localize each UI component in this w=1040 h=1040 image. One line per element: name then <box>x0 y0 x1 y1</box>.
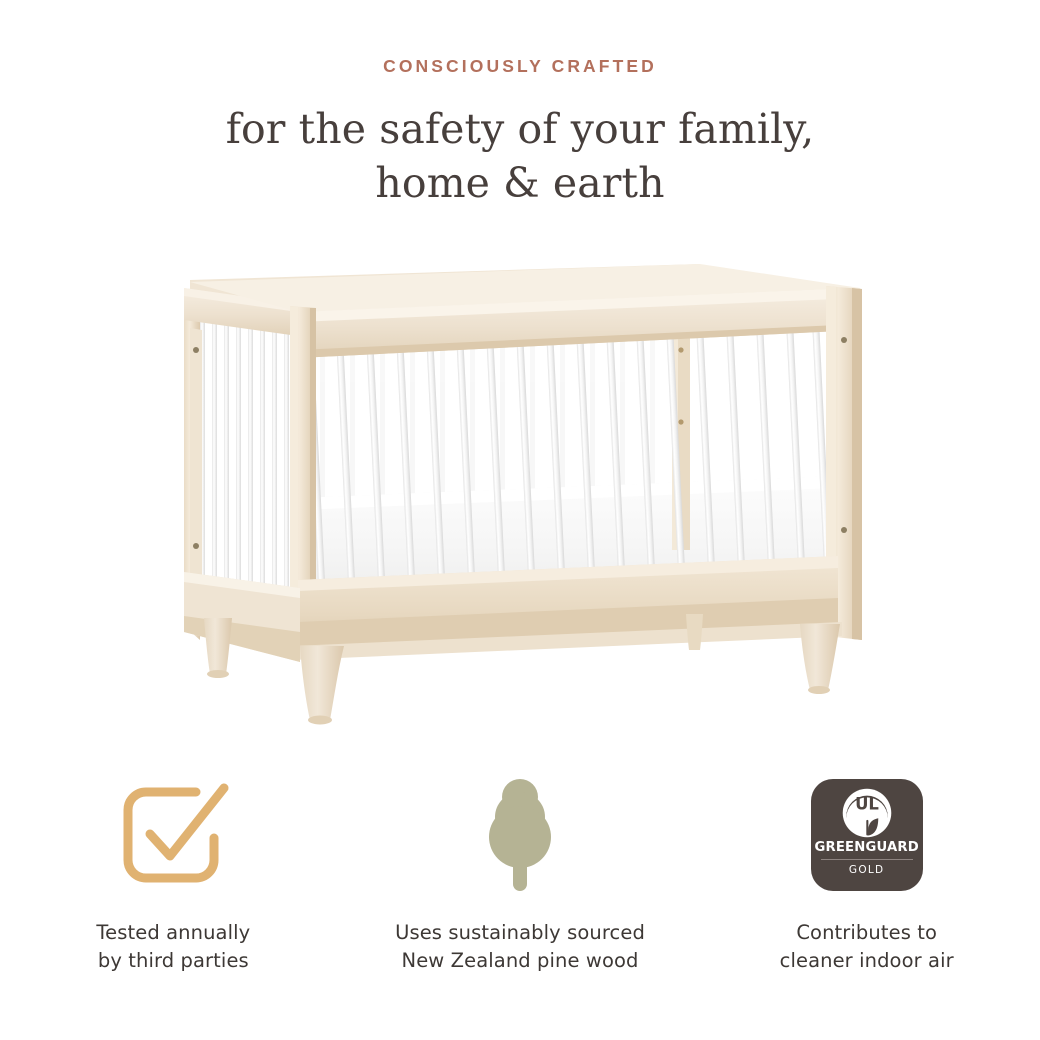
crib-leg-rear-left <box>204 618 232 674</box>
feature-caption: Uses sustainably sourced New Zealand pin… <box>395 919 645 976</box>
header: CONSCIOUSLY CRAFTED for the safety of yo… <box>0 58 1040 211</box>
feature-caption: Tested annually by third parties <box>96 919 250 976</box>
feature-icon-wrap <box>108 765 238 905</box>
greenguard-label: GREENGUARD <box>814 841 918 854</box>
feature-caption-line-1: Tested annually <box>96 919 250 947</box>
greenguard-gold-badge-icon: UL GREENGUARD GOLD <box>811 779 923 891</box>
feature-greenguard-gold: UL GREENGUARD GOLD Contributes to cleane… <box>693 765 1040 995</box>
feature-caption-line-2: by third parties <box>96 947 250 975</box>
tree-icon <box>470 775 570 895</box>
feature-caption: Contributes to cleaner indoor air <box>780 919 954 976</box>
crib-leg-rear-right <box>686 614 703 650</box>
checkbox-check-icon <box>108 776 238 894</box>
gold-tier-label: GOLD <box>849 865 885 876</box>
feature-icon-wrap: UL GREENGUARD GOLD <box>811 765 923 905</box>
eyebrow-text: CONSCIOUSLY CRAFTED <box>0 58 1040 76</box>
badge-divider <box>821 859 913 860</box>
ul-letters: UL <box>855 795 879 814</box>
headline-line-1: for the safety of your family, <box>226 105 815 153</box>
crib-illustration <box>0 250 1040 740</box>
feature-sustainable-wood: Uses sustainably sourced New Zealand pin… <box>347 765 694 995</box>
feature-caption-line-2: New Zealand pine wood <box>395 947 645 975</box>
headline-line-2: home & earth <box>0 156 1040 211</box>
feature-caption-line-2: cleaner indoor air <box>780 947 954 975</box>
crib-leg-front-left <box>300 646 344 720</box>
marketing-panel: CONSCIOUSLY CRAFTED for the safety of yo… <box>0 0 1040 1040</box>
product-image <box>0 250 1040 740</box>
feature-tested-annually: Tested annually by third parties <box>0 765 347 995</box>
ul-mark-icon: UL <box>841 787 893 839</box>
feature-caption-line-1: Contributes to <box>780 919 954 947</box>
feature-caption-line-1: Uses sustainably sourced <box>395 919 645 947</box>
page-title: for the safety of your family, home & ea… <box>0 102 1040 212</box>
crib-leg-front-right <box>800 624 840 690</box>
feature-row: Tested annually by third parties <box>0 765 1040 995</box>
crib-base-rail <box>184 556 842 662</box>
feature-icon-wrap <box>470 765 570 905</box>
